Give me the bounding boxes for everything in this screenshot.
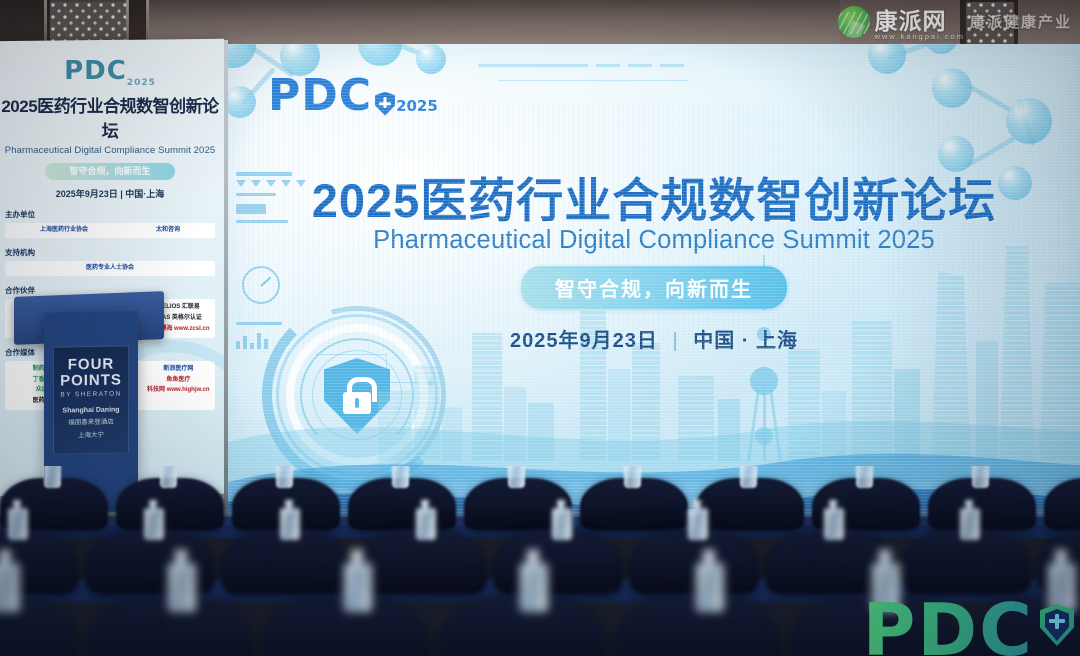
water-bottle	[144, 500, 162, 540]
date-separator: |	[672, 330, 678, 352]
water-bottle	[280, 500, 298, 540]
chair	[1044, 478, 1080, 530]
poster-section-label: 主办单位	[5, 209, 224, 220]
event-location: 中国 · 上海	[693, 330, 798, 352]
water-bottle	[740, 466, 755, 488]
podium-brand-plate: FOUR POINTS BY SHERATON Shanghai Daning …	[53, 345, 129, 454]
water-bottle	[416, 500, 434, 540]
water-bottle	[392, 466, 407, 488]
event-title-cn: 2025医药行业合规数智创新论坛	[228, 162, 1080, 231]
media-logo: 科技网 www.highjw.cn	[146, 387, 211, 394]
water-bottle	[344, 550, 370, 612]
circuit-lines-decor-top	[478, 56, 708, 102]
water-bottle	[168, 550, 194, 612]
media-logo: 新浪医疗网	[146, 366, 211, 373]
event-title-en: Pharmaceutical Digital Compliance Summit…	[228, 226, 1080, 255]
green-leaf-icon	[838, 6, 870, 38]
watermark-tagline: 康派健康产业	[970, 11, 1072, 32]
shield-cross-icon	[375, 92, 395, 116]
podium-location-cn1: 福朋喜来登酒店	[54, 418, 128, 428]
water-bottle	[508, 466, 523, 488]
event-date: 2025年9月23日	[510, 330, 658, 352]
water-bottle	[1048, 550, 1074, 612]
poster-logo: PDC2025	[0, 56, 224, 88]
water-bottle	[160, 466, 175, 488]
water-bottle	[856, 466, 871, 488]
water-bottle	[552, 500, 570, 540]
pdc-wordmark: PDC	[268, 76, 372, 116]
molecule-icon	[868, 44, 988, 108]
podium-brand-line2: POINTS	[54, 372, 128, 389]
site-watermark: 康派网 www.kangpai.com 康派健康产业	[838, 2, 1072, 41]
water-bottle	[824, 500, 842, 540]
water-bottle	[624, 466, 639, 488]
water-bottle	[44, 466, 59, 488]
watermark-url: www.kangpai.com	[875, 32, 965, 41]
podium-location-cn2: 上海大宁	[54, 432, 128, 442]
poster-logo-row-organizers: 上海医药行业协会 太和咨询	[5, 223, 215, 238]
poster-slogan: 智守合规，向新而生	[45, 163, 175, 180]
sponsor-logo: 医药专业人士协会	[86, 265, 134, 272]
podium-brand-by: BY SHERATON	[54, 390, 128, 398]
poster-title-en: Pharmaceutical Digital Compliance Summit…	[0, 145, 224, 156]
pdc-year: 2025	[396, 97, 438, 115]
poster-title-cn: 2025医药行业合规数智创新论坛	[0, 92, 224, 142]
poster-date-line: 2025年9月23日 | 中国·上海	[0, 187, 224, 200]
water-bottle	[276, 466, 291, 488]
water-bottle	[0, 550, 18, 612]
water-bottle	[960, 500, 978, 540]
water-bottle	[696, 550, 722, 612]
sponsor-logo: 太和咨询	[156, 227, 180, 234]
led-pdc-logo: PDC 2025	[268, 76, 438, 116]
water-bottle	[520, 550, 546, 612]
event-date-location: 2025年9月23日 | 中国 · 上海	[228, 324, 1080, 353]
conference-photo: PDC2025 2025医药行业合规数智创新论坛 Pharmaceutical …	[0, 0, 1080, 656]
podium-location-en: Shanghai Daning	[54, 406, 128, 414]
sponsor-logo: 上海医药行业协会	[40, 227, 88, 234]
led-screen: PDC 2025 2025医药行业合规数智创新论坛 Pharmaceutical…	[228, 44, 1080, 516]
event-slogan-badge: 智守合规，向新而生	[521, 266, 787, 309]
audience-seating	[0, 466, 1080, 656]
water-bottle	[688, 500, 706, 540]
poster-logo-row-support: 医药专业人士协会	[5, 261, 215, 276]
media-logo: 鱼鱼医疗	[146, 377, 211, 384]
water-bottle	[8, 500, 26, 540]
water-bottle	[872, 550, 898, 612]
poster-section-label: 支持机构	[5, 247, 224, 258]
watermark-brand: 康派网	[875, 2, 965, 36]
water-bottle	[972, 466, 987, 488]
